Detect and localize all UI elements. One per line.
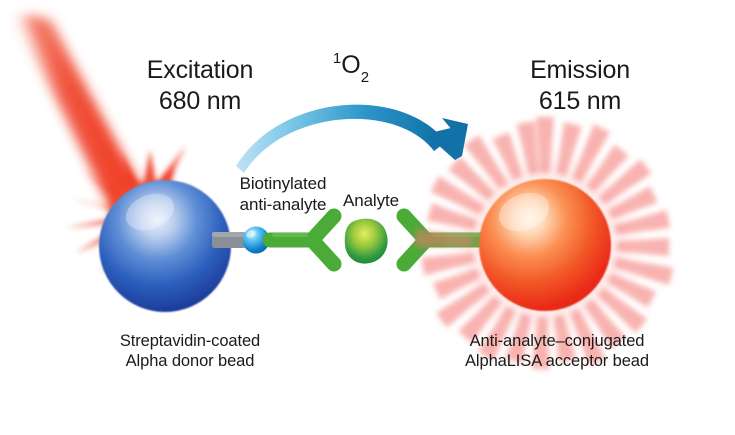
- donor-caption-line-1: Streptavidin-coated: [80, 331, 300, 351]
- excitation-line-1: Excitation: [105, 55, 295, 86]
- emission-line-1: Emission: [485, 55, 675, 86]
- donor-caption-line-2: Alpha donor bead: [80, 351, 300, 371]
- streptavidin-linker: [212, 232, 246, 248]
- acceptor-bead-caption: Anti-analyte–conjugated AlphaLISA accept…: [432, 331, 682, 371]
- acceptor-caption-line-2: AlphaLISA acceptor bead: [432, 351, 682, 371]
- excitation-line-2: 680 nm: [105, 86, 295, 117]
- singlet-oxygen-superscript: 1: [333, 50, 341, 67]
- analyte-molecule: [345, 219, 388, 264]
- emission-line-2: 615 nm: [485, 86, 675, 117]
- excitation-label: Excitation 680 nm: [105, 55, 295, 116]
- analyte-label-line-1: Analyte: [326, 191, 416, 212]
- biotinylated-anti-analyte-antibody: [270, 216, 334, 264]
- singlet-oxygen-subscript: 2: [361, 69, 369, 86]
- acceptor-caption-line-1: Anti-analyte–conjugated: [432, 331, 682, 351]
- singlet-oxygen-label: 1O2: [296, 50, 406, 84]
- emission-label: Emission 615 nm: [485, 55, 675, 116]
- analyte-label: Analyte: [326, 191, 416, 212]
- alpha-donor-bead: [99, 180, 231, 312]
- donor-bead-caption: Streptavidin-coated Alpha donor bead: [80, 331, 300, 371]
- diagram-canvas: Excitation 680 nm Emission 615 nm 1O2 Bi…: [0, 0, 735, 435]
- singlet-oxygen-symbol: O: [341, 51, 360, 79]
- alphalisa-acceptor-bead: [479, 179, 611, 311]
